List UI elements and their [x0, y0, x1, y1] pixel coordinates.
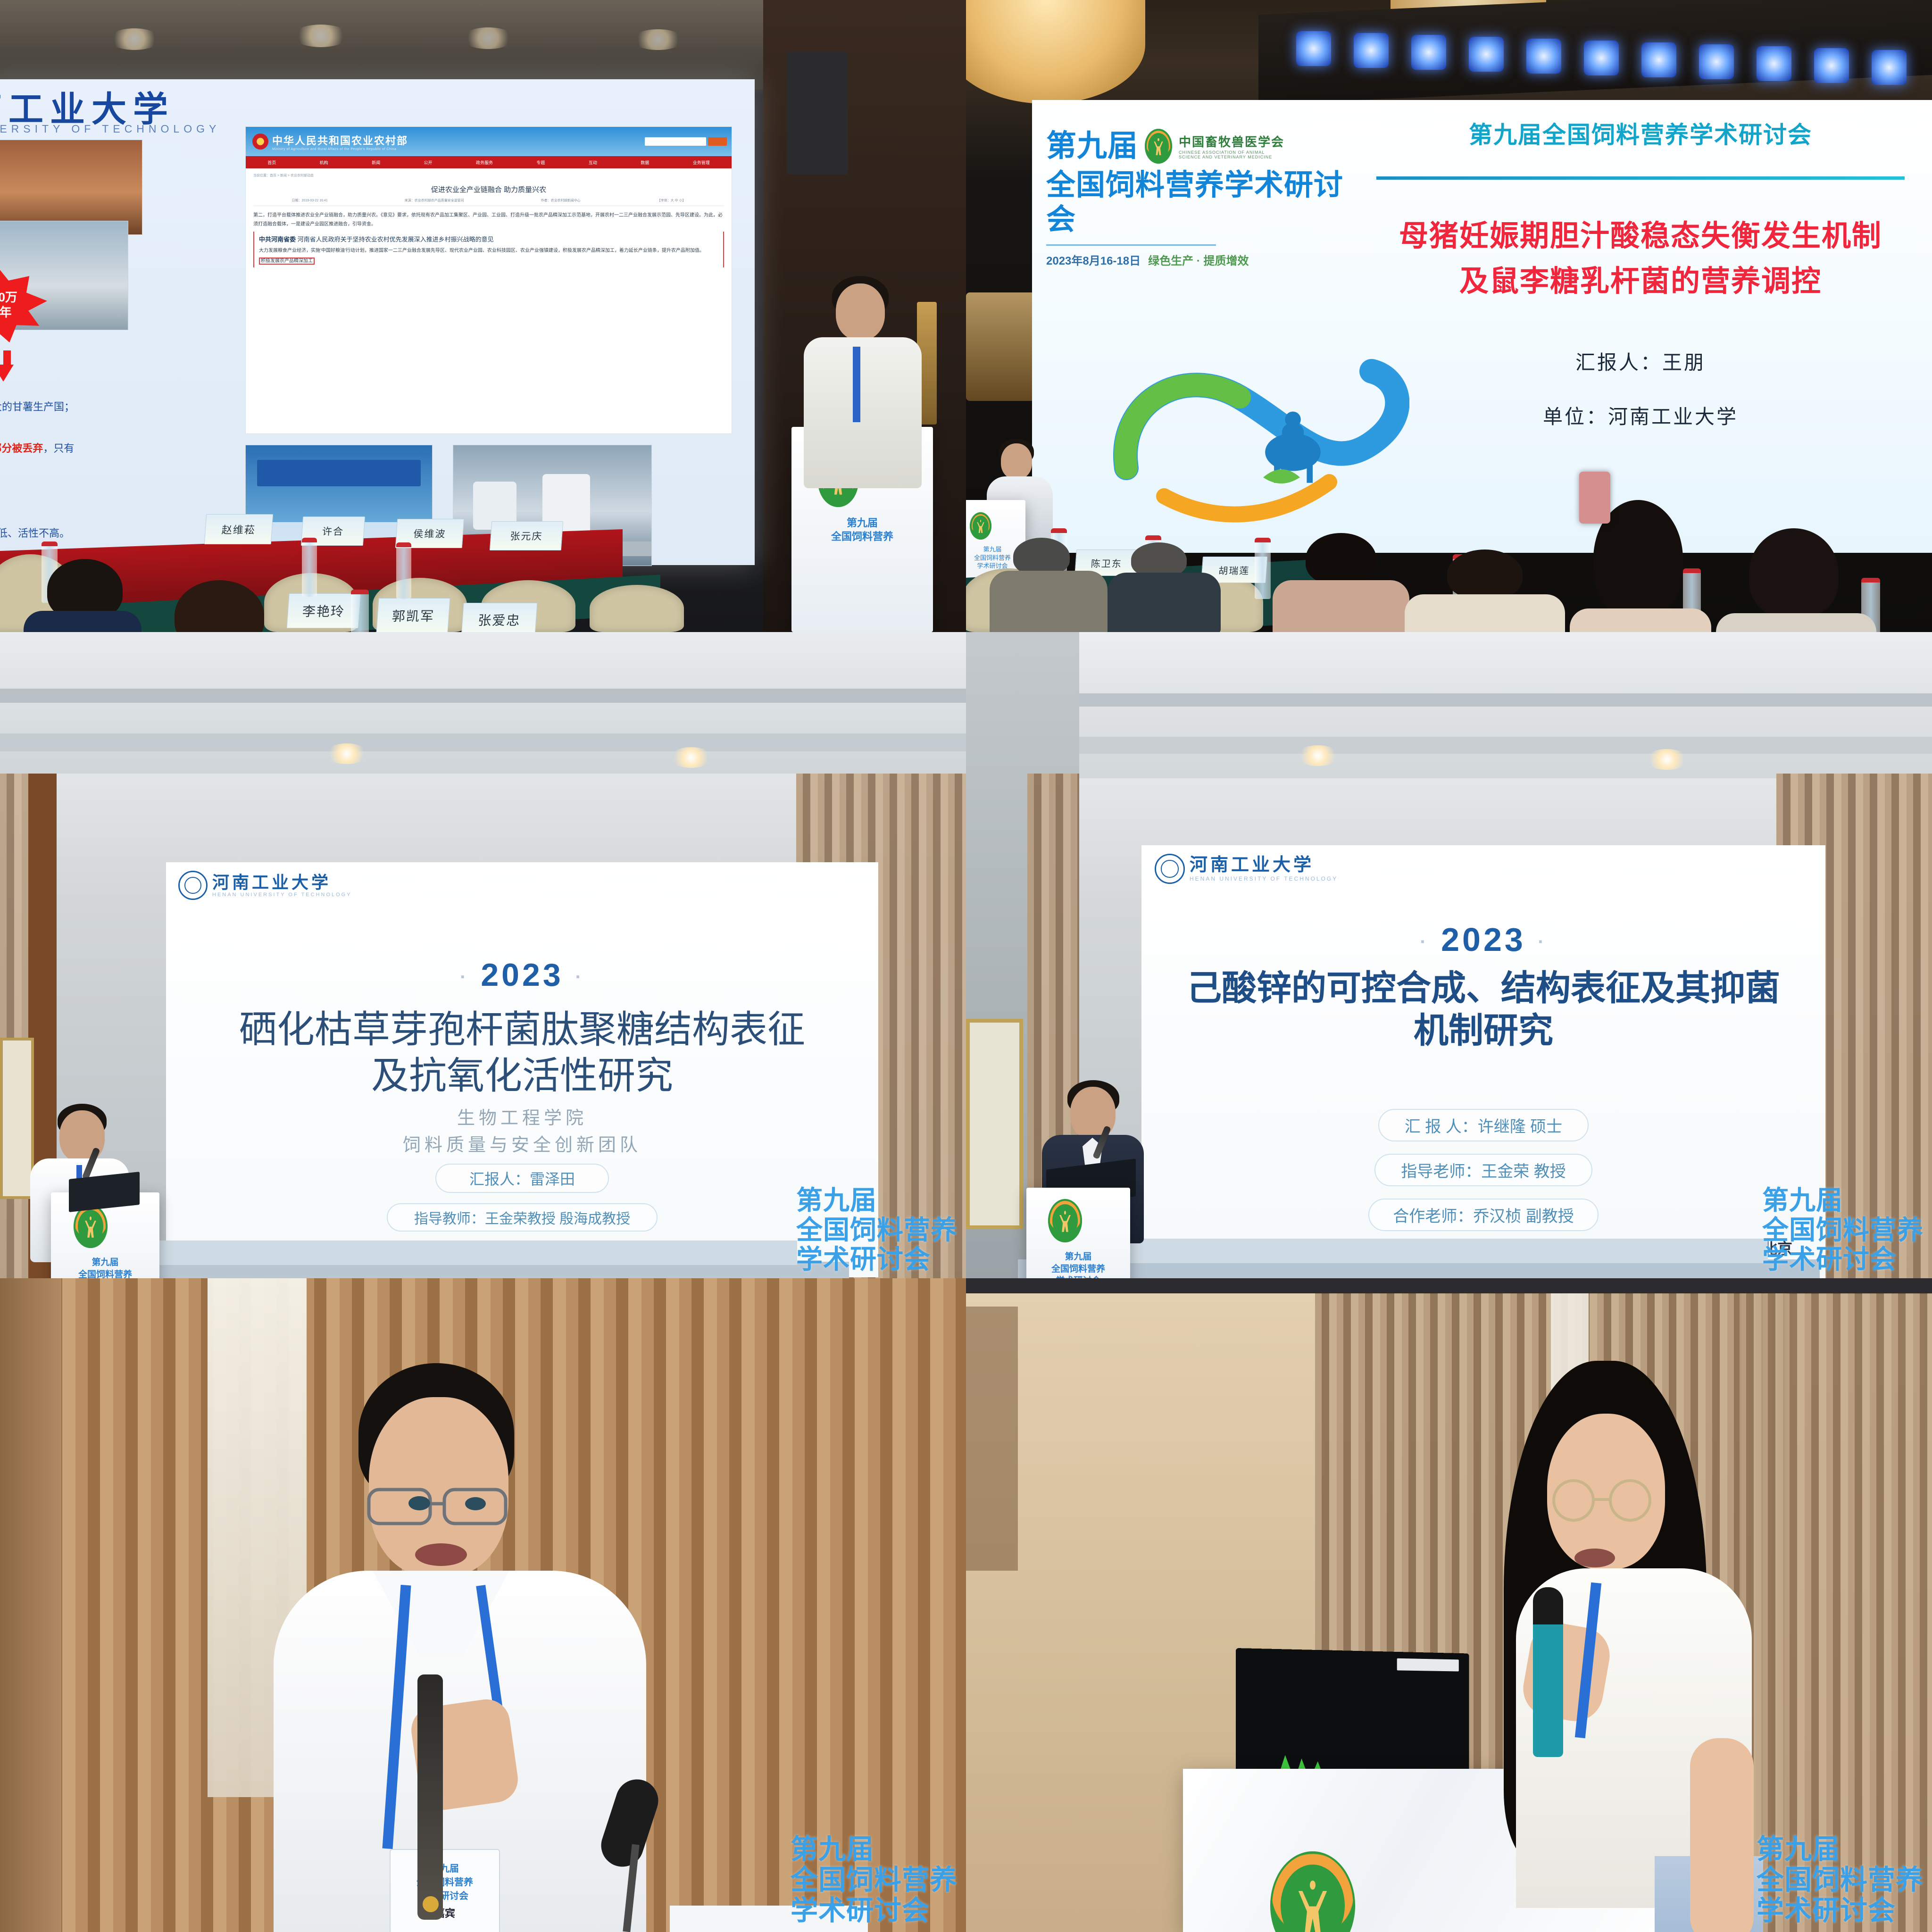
podium-banner-line-2: 全国饲料营养	[791, 530, 933, 544]
slide-presenter-pill: 汇报人：雷泽田	[435, 1164, 609, 1193]
attendee-badge: 第九届 全国饲料营养 学术研讨会 嘉宾	[390, 1849, 500, 1932]
nav-item[interactable]: 公开	[424, 159, 433, 166]
gov-site-title-en: Ministry of Agriculture and Rural Affair…	[272, 148, 408, 151]
photo-collage: 南工业大学 NIVERSITY OF TECHNOLOGY 1000万 吨/年 …	[0, 0, 1932, 1932]
slide-logo-en: HENAN UNIVERSITY OF TECHNOLOGY	[212, 892, 352, 898]
slide-title-line-2: 及抗氧化活性研究	[166, 1053, 878, 1099]
name-card: 赵维菘	[204, 514, 273, 544]
slide-dept-line-1: 生物工程学院	[166, 1105, 878, 1132]
conference-watermark: 第九届 全国饲料营养 学术研讨会	[791, 1834, 958, 1926]
search-input[interactable]	[645, 137, 706, 146]
gov-site-title: 中华人民共和国农业农村部	[272, 133, 408, 148]
nav-item[interactable]: 互动	[589, 159, 597, 166]
stage-light	[1757, 46, 1791, 81]
stage-light	[1814, 48, 1849, 83]
kv-slogan: 绿色生产 · 提质增效	[1148, 251, 1249, 268]
nav-item[interactable]: 机构	[320, 159, 328, 166]
name-card: 张爱忠	[461, 603, 537, 632]
article-paragraph: 第二，打造平台载体推进农业全产业链融合，助力质量兴农。《意见》要求，依托现有农产…	[253, 211, 724, 229]
slide-logo-cn: 河南工业大学	[212, 873, 352, 892]
name-card: 郭凯军	[376, 598, 450, 632]
quote-boxed-text: 积极发展农产品精深加工	[259, 258, 315, 265]
nav-item[interactable]: 数据	[641, 159, 649, 166]
slide-title-line-2: 及鼠李糖乳杆菌的营养调控	[1362, 259, 1919, 304]
glasses-icon	[358, 1481, 528, 1533]
conference-watermark: 第九届 全国饲料营养 学术研讨会	[1762, 1186, 1924, 1274]
panel-middle-left: 河南工业大学 HENAN UNIVERSITY OF TECHNOLOGY · …	[0, 632, 966, 1278]
name-card: 李艳玲	[286, 593, 360, 628]
panel-top-left: 南工业大学 NIVERSITY OF TECHNOLOGY 1000万 吨/年 …	[0, 0, 966, 632]
stage-light	[1354, 33, 1389, 68]
slide-bullet-1: 我国是世界最大的甘薯生产国；	[0, 396, 151, 417]
kv-date: 2023年8月16-18日	[1046, 251, 1141, 268]
article-meta: 【字体：大 中 小】	[658, 198, 686, 203]
slide-dept-line-2: 饲料质量与安全创新团队	[166, 1132, 878, 1159]
handheld-microphone-icon	[1533, 1587, 1563, 1757]
slide-year: 2023	[1441, 921, 1526, 958]
speaker	[787, 276, 928, 483]
slide-affiliation: 单位：河南工业大学	[1362, 401, 1919, 430]
stage-light	[1526, 39, 1561, 74]
slide-title-line-1: 己酸锌的可控合成、结构表征及其抑菌	[1141, 967, 1825, 1009]
panel-bottom-right: 第九届 全国饲料营养 学术研讨会	[966, 1278, 1932, 1932]
slide-title-line-1: 母猪妊娠期胆汁酸稳态失衡发生机制	[1362, 214, 1919, 259]
article-meta: 作者：农业农村部新闻中心	[541, 198, 581, 203]
slide-advisor-pill: 指导教师：王金荣教授 殷海成教授	[387, 1203, 658, 1232]
conference-kv-board: 第九届 中国畜牧兽医学会 CHINESE ASSOCIATION OF ANIM…	[1032, 100, 1932, 553]
nav-item[interactable]: 专题	[536, 159, 545, 166]
stage-light	[1872, 50, 1907, 85]
name-card: 张元庆	[490, 521, 563, 550]
association-name-en-2: SCIENCE AND VETERINARY MEDICINE	[1179, 155, 1284, 159]
slide-logo-cn: 河南工业大学	[1190, 856, 1338, 875]
stage-light	[1584, 41, 1619, 75]
presentation-slide: 河南工业大学 HENAN UNIVERSITY OF TECHNOLOGY · …	[1141, 845, 1825, 1278]
policy-quote-block: 中共河南省委 河南省人民政府关于坚持农业农村优先发展深入推进乡村振兴战略的意见 …	[253, 232, 724, 267]
breadcrumb: 当前位置：首页 > 新闻 > 农业农村部动态	[253, 173, 724, 178]
association-logo	[1270, 1851, 1355, 1932]
slide-advisor-pill: 指导老师：王金荣 教授	[1374, 1154, 1592, 1186]
laptop	[1236, 1648, 1469, 1779]
conference-watermark: 第九届 全国饲料营养 学术研讨会	[1757, 1834, 1924, 1926]
slide-title-line-1: 硒化枯草芽孢杆菌肽聚糖结构表征	[166, 1007, 878, 1053]
slide-bullet-highlight-1: 甘薯渣大部分被丢弃	[0, 442, 43, 454]
speaker	[1475, 1361, 1777, 1932]
glasses-icon	[1537, 1479, 1678, 1524]
kv-conference-name: 全国饲料营养学术研讨会	[1046, 168, 1343, 237]
panel-bottom-left: 第九届 全国饲料营养 学术研讨会 嘉宾 第九届 全国饲料营养 学术研讨会	[0, 1278, 966, 1932]
podium-banner-line-1: 第九届	[791, 516, 933, 530]
article-title: 促进农业全产业链融合 助力质量兴农	[253, 184, 724, 194]
handheld-microphone-icon	[417, 1674, 443, 1920]
stage-light	[1469, 37, 1504, 72]
conference-watermark: 第九届 全国饲料营养 学术研讨会	[796, 1186, 958, 1274]
presentation-slide: 河南工业大学 HENAN UNIVERSITY OF TECHNOLOGY · …	[166, 862, 878, 1277]
stage-light	[1699, 44, 1734, 79]
association-name-en-1: CHINESE ASSOCIATION OF ANIMAL	[1179, 150, 1284, 155]
kv-edition: 第九届	[1046, 128, 1138, 164]
slide-title-line-2: 机制研究	[1141, 1009, 1825, 1052]
gov-website-screenshot: 中华人民共和国农业农村部 Ministry of Agriculture and…	[245, 126, 732, 434]
nav-item[interactable]: 业务管理	[693, 159, 710, 166]
slide-header: 第九届全国饲料营养学术研讨会	[1362, 116, 1919, 150]
slide-presenter-pill: 汇 报 人：许继隆 硕士	[1378, 1109, 1589, 1141]
association-name-cn: 中国畜牧兽医学会	[1179, 133, 1284, 150]
slide-logo-en: HENAN UNIVERSITY OF TECHNOLOGY	[1190, 875, 1338, 882]
panel-top-right: 第九届 中国畜牧兽医学会 CHINESE ASSOCIATION OF ANIM…	[966, 0, 1932, 632]
slide-year: 2023	[481, 957, 563, 993]
national-emblem-icon	[252, 133, 268, 150]
slide-collaborator-pill: 合作老师：乔汉桢 副教授	[1368, 1199, 1598, 1231]
burst-label: 1000万 吨/年	[0, 290, 17, 320]
nav-item[interactable]: 政务服务	[476, 159, 493, 166]
quote-title-bold: 中共河南省委	[259, 236, 296, 243]
search-button[interactable]	[708, 137, 727, 146]
quote-title-rest: 河南省人民政府关于坚持农业农村优先发展深入推进乡村振兴战略的意见	[298, 236, 494, 243]
podium: 第九届 全国饲料营养 学术研讨会	[1026, 1188, 1130, 1278]
article-meta: 日期：2019-03-22 16:41	[291, 198, 327, 203]
nav-item[interactable]: 新闻	[372, 159, 380, 166]
stage-light	[1411, 35, 1446, 70]
panel-middle-right: 河南工业大学 HENAN UNIVERSITY OF TECHNOLOGY · …	[966, 632, 1932, 1278]
stage-light	[1641, 42, 1676, 77]
stage-light	[1296, 31, 1331, 66]
quote-body: 大力发展粮食产业经济，实施'中国好粮油'行动计划，推进国家一二三产业融合发展先导…	[259, 246, 718, 255]
gov-site-nav[interactable]: 首页 机构 新闻 公开 政务服务 专题 互动 数据 业务管理	[246, 156, 732, 168]
nav-item[interactable]: 首页	[267, 159, 276, 166]
article-meta: 来源：农业农村部农产品质量安全监管司	[405, 198, 464, 203]
slide-presenter: 汇报人：王朋	[1362, 347, 1919, 375]
